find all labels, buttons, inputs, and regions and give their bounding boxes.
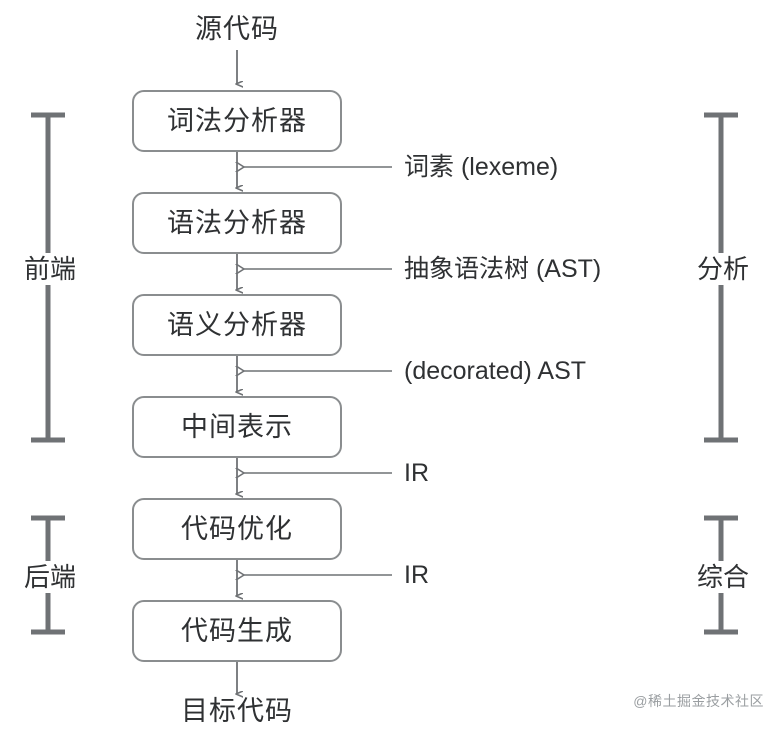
bracket-label-backend: 后端 <box>11 561 89 593</box>
bracket-label-analysis: 分析 <box>684 253 762 285</box>
edge-label-ir-1: IR <box>404 461 429 486</box>
bracket-label-frontend: 前端 <box>11 253 89 285</box>
stage-box-lexical-analyzer[interactable]: 词法分析器 <box>132 90 342 152</box>
edge-label-lexeme: 词素 (lexeme) <box>404 155 558 180</box>
terminal-target-code: 目标代码 <box>132 698 342 725</box>
stage-box-semantic-analyzer[interactable]: 语义分析器 <box>132 294 342 356</box>
terminal-source-code: 源代码 <box>132 16 342 43</box>
stage-box-intermediate-representation[interactable]: 中间表示 <box>132 396 342 458</box>
bracket-label-synthesis: 综合 <box>684 561 762 593</box>
edge-label-decorated-ast: (decorated) AST <box>404 359 586 384</box>
diagram-canvas: 源代码 目标代码 词法分析器 语法分析器 语义分析器 中间表示 代码优化 代码生… <box>0 0 778 744</box>
watermark-text: @稀土掘金技术社区 <box>633 694 764 708</box>
edge-label-ir-2: IR <box>404 563 429 588</box>
edge-label-ast: 抽象语法树 (AST) <box>404 257 601 282</box>
connector-layer <box>0 0 778 744</box>
stage-box-code-optimization[interactable]: 代码优化 <box>132 498 342 560</box>
stage-box-code-generation[interactable]: 代码生成 <box>132 600 342 662</box>
stage-box-syntax-analyzer[interactable]: 语法分析器 <box>132 192 342 254</box>
